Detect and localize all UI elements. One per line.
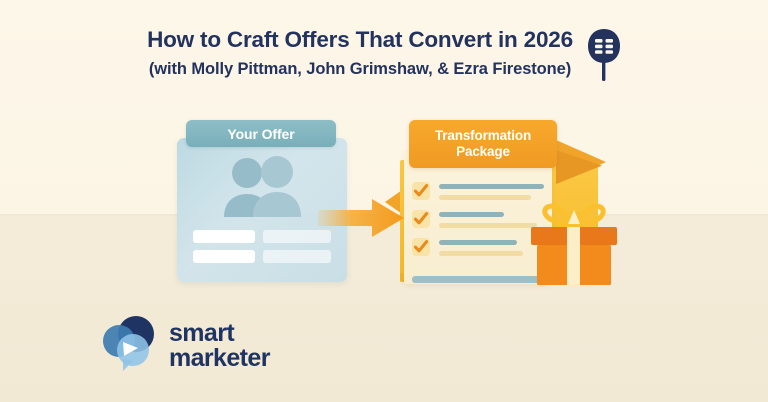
- checkmark-icon: [412, 238, 430, 256]
- package-card-title: Transformation Package: [435, 128, 531, 159]
- headline-block: How to Craft Offers That Convert in 2026…: [0, 26, 768, 87]
- package-card-title-line1: Transformation: [435, 128, 531, 143]
- checklist-item-lines: [439, 182, 544, 200]
- gift-box-icon: [521, 200, 627, 285]
- package-card-header: Transformation Package: [409, 120, 557, 168]
- package-card-title-line2: Package: [456, 144, 510, 159]
- microphone-icon: [587, 28, 621, 87]
- checklist-line-primary: [439, 184, 544, 189]
- checklist-line-secondary: [439, 251, 523, 256]
- checklist-line-secondary: [439, 195, 531, 200]
- right-arrow-icon: [318, 198, 404, 238]
- checklist-item: [412, 182, 544, 200]
- two-people-icon: [214, 155, 310, 222]
- offer-bar: [193, 250, 255, 263]
- page-title: How to Craft Offers That Convert in 2026: [147, 26, 573, 53]
- brand-logo-text: smart marketer: [169, 321, 270, 370]
- offer-bar: [193, 230, 255, 243]
- page-subtitle: (with Molly Pittman, John Grimshaw, & Ez…: [147, 60, 573, 80]
- offer-card-title: Your Offer: [227, 126, 294, 142]
- offer-bar: [263, 250, 331, 263]
- brand-logo-line2: marketer: [169, 346, 270, 371]
- checkmark-icon: [412, 210, 430, 228]
- slide-canvas: How to Craft Offers That Convert in 2026…: [0, 0, 768, 402]
- checkmark-icon: [412, 182, 430, 200]
- checklist-line-primary: [439, 240, 517, 245]
- brand-logo-line1: smart: [169, 319, 234, 347]
- overlapping-circles-speech-bubble-icon: [100, 314, 158, 377]
- headline-text-group: How to Craft Offers That Convert in 2026…: [147, 26, 573, 80]
- checklist-line-primary: [439, 212, 504, 217]
- offer-card-bars: [193, 230, 331, 263]
- brand-logo[interactable]: smart marketer: [100, 314, 270, 377]
- offer-card-header: Your Offer: [186, 120, 336, 147]
